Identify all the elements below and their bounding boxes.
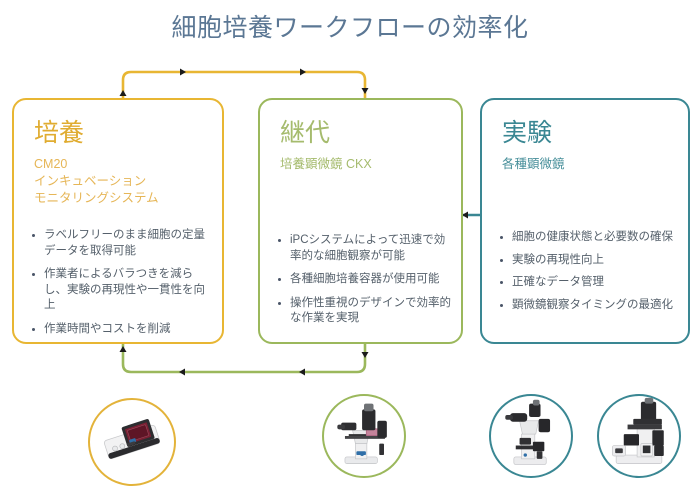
cultivation-to-passage-arrow	[120, 69, 369, 99]
list-item: 実験の再現性向上	[496, 253, 680, 269]
card-cultivation-bullets: ラベルフリーのまま細胞の定量データを取得可能 作業者によるバラつきを減らし、実験…	[28, 228, 214, 345]
card-experiment[interactable]: 実験 各種顕微鏡 細胞の健康状態と必要数の確保 実験の再現性向上 正確なデータ管…	[480, 98, 690, 344]
upright-microscope-photo	[489, 394, 573, 478]
workflow-diagram: 細胞培養ワークフローの効率化 培養 CM20 インキュベーション モニタリングシ…	[0, 0, 700, 500]
incubation-monitoring-device-photo	[88, 398, 176, 486]
arrowhead-up-icon	[120, 346, 127, 352]
card-experiment-bullets: 細胞の健康状態と必要数の確保 実験の再現性向上 正確なデータ管理 顕微鏡観察タイ…	[496, 230, 680, 320]
card-experiment-heading: 実験	[502, 118, 552, 148]
list-item: 操作性重視のデザインで効率的な作業を実現	[274, 296, 453, 327]
arrowhead-left-icon	[299, 369, 305, 376]
list-item: 各種細胞培養容器が使用可能	[274, 272, 453, 288]
list-item: iPCシステムによって迅速で効率的な細胞観察が可能	[274, 233, 453, 264]
card-cultivation-heading: 培養	[34, 118, 84, 148]
arrowhead-left-icon	[179, 369, 185, 376]
arrowhead-down-icon	[362, 352, 369, 358]
list-item: 細胞の健康状態と必要数の確保	[496, 230, 680, 246]
card-experiment-subtitle: 各種顕微鏡	[502, 156, 565, 173]
arrowhead-right-icon	[180, 69, 186, 76]
card-cultivation-subtitle: CM20 インキュベーション モニタリングシステム	[34, 156, 159, 207]
list-item: ラベルフリーのまま細胞の定量データを取得可能	[28, 228, 214, 259]
card-passage-subtitle: 培養顕微鏡 CKX	[280, 156, 372, 173]
passage-to-cultivation-arrow	[120, 344, 369, 376]
card-passage-heading: 継代	[280, 118, 330, 148]
list-item: 作業者によるバラつきを減らし、実験の再現性や一貫性を向上	[28, 267, 214, 314]
list-item: 正確なデータ管理	[496, 275, 680, 291]
list-item: 顕微鏡観察タイミングの最適化	[496, 298, 680, 314]
inverted-microscope-photo	[322, 394, 406, 478]
arrowhead-up-icon	[120, 90, 127, 96]
list-item: 作業時間やコストを削減	[28, 322, 214, 338]
card-cultivation[interactable]: 培養 CM20 インキュベーション モニタリングシステム ラベルフリーのまま細胞…	[12, 98, 224, 344]
card-passage-bullets: iPCシステムによって迅速で効率的な細胞観察が可能 各種細胞培養容器が使用可能 …	[274, 233, 453, 335]
card-passage[interactable]: 継代 培養顕微鏡 CKX iPCシステムによって迅速で効率的な細胞観察が可能 各…	[258, 98, 463, 344]
arrowhead-right-icon	[300, 69, 306, 76]
page-title: 細胞培養ワークフローの効率化	[0, 12, 700, 44]
arrowhead-down-icon	[362, 88, 369, 94]
research-microscope-photo	[597, 394, 681, 478]
